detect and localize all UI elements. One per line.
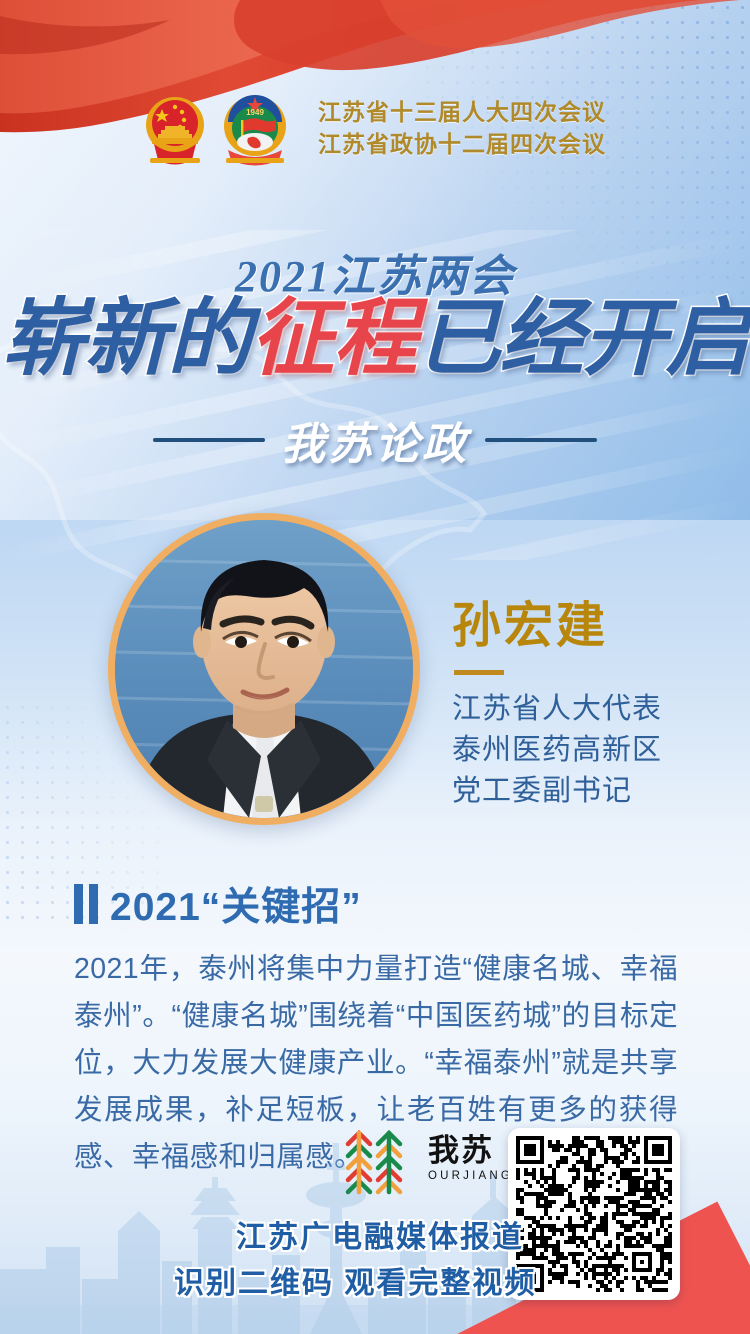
brand-name: 我苏论政 xyxy=(281,408,469,472)
footer-line-1: 江苏广电融媒体报道 xyxy=(236,1212,524,1256)
person-role-line-3: 党工委副书记 xyxy=(452,771,732,812)
person-name: 孙宏建 xyxy=(452,600,732,654)
main-title-part-1: 崭新的 xyxy=(1,293,250,386)
person-role-line-2: 泰州医药高新区 xyxy=(452,730,732,771)
meeting-title-block: 江苏省十三届人大四次会议 江苏省政协十二届四次会议 xyxy=(318,97,606,160)
brand-rule-right xyxy=(485,438,597,442)
header-emblems-and-meeting: 1949 江苏省十三届人大四次会议 江苏省政协十二届四次会议 xyxy=(0,92,750,166)
avatar xyxy=(108,513,420,825)
meeting-line-2: 江苏省政协十二届四次会议 xyxy=(318,129,606,161)
brand-row: 我苏论政 xyxy=(0,408,750,472)
poster-main-title: 崭新的征程已经开启 xyxy=(0,290,750,390)
cppcc-emblem-icon: 1949 xyxy=(222,92,288,166)
name-divider xyxy=(454,670,504,675)
national-emblem-icon xyxy=(144,92,206,166)
brand-logo: 我苏 OURJIANGSU xyxy=(344,1122,535,1196)
portrait-photo xyxy=(115,520,413,818)
meeting-line-1: 江苏省十三届人大四次会议 xyxy=(318,97,606,129)
section-accent-bars xyxy=(74,884,98,924)
person-role-line-1: 江苏省人大代表 xyxy=(452,689,732,730)
footer-line-2: 识别二维码 观看完整视频 xyxy=(174,1258,536,1302)
svg-text:1949: 1949 xyxy=(246,108,264,117)
brand-rule-left xyxy=(153,438,265,442)
main-title-part-3: 已经开启 xyxy=(417,293,749,386)
wosu-logo-icon xyxy=(344,1122,418,1196)
section-title: 2021“关键招” xyxy=(110,876,362,932)
poster-root: 1949 江苏省十三届人大四次会议 江苏省政协十二届四次会议 2021江苏两会 … xyxy=(0,0,750,1334)
main-title-part-2-highlight: 征程 xyxy=(250,293,416,386)
person-info: 孙宏建 江苏省人大代表 泰州医药高新区 党工委副书记 xyxy=(452,600,732,812)
person-role: 江苏省人大代表 泰州医药高新区 党工委副书记 xyxy=(452,689,732,813)
qr-code-canvas xyxy=(516,1136,672,1292)
section-heading: 2021“关键招” xyxy=(74,876,362,932)
